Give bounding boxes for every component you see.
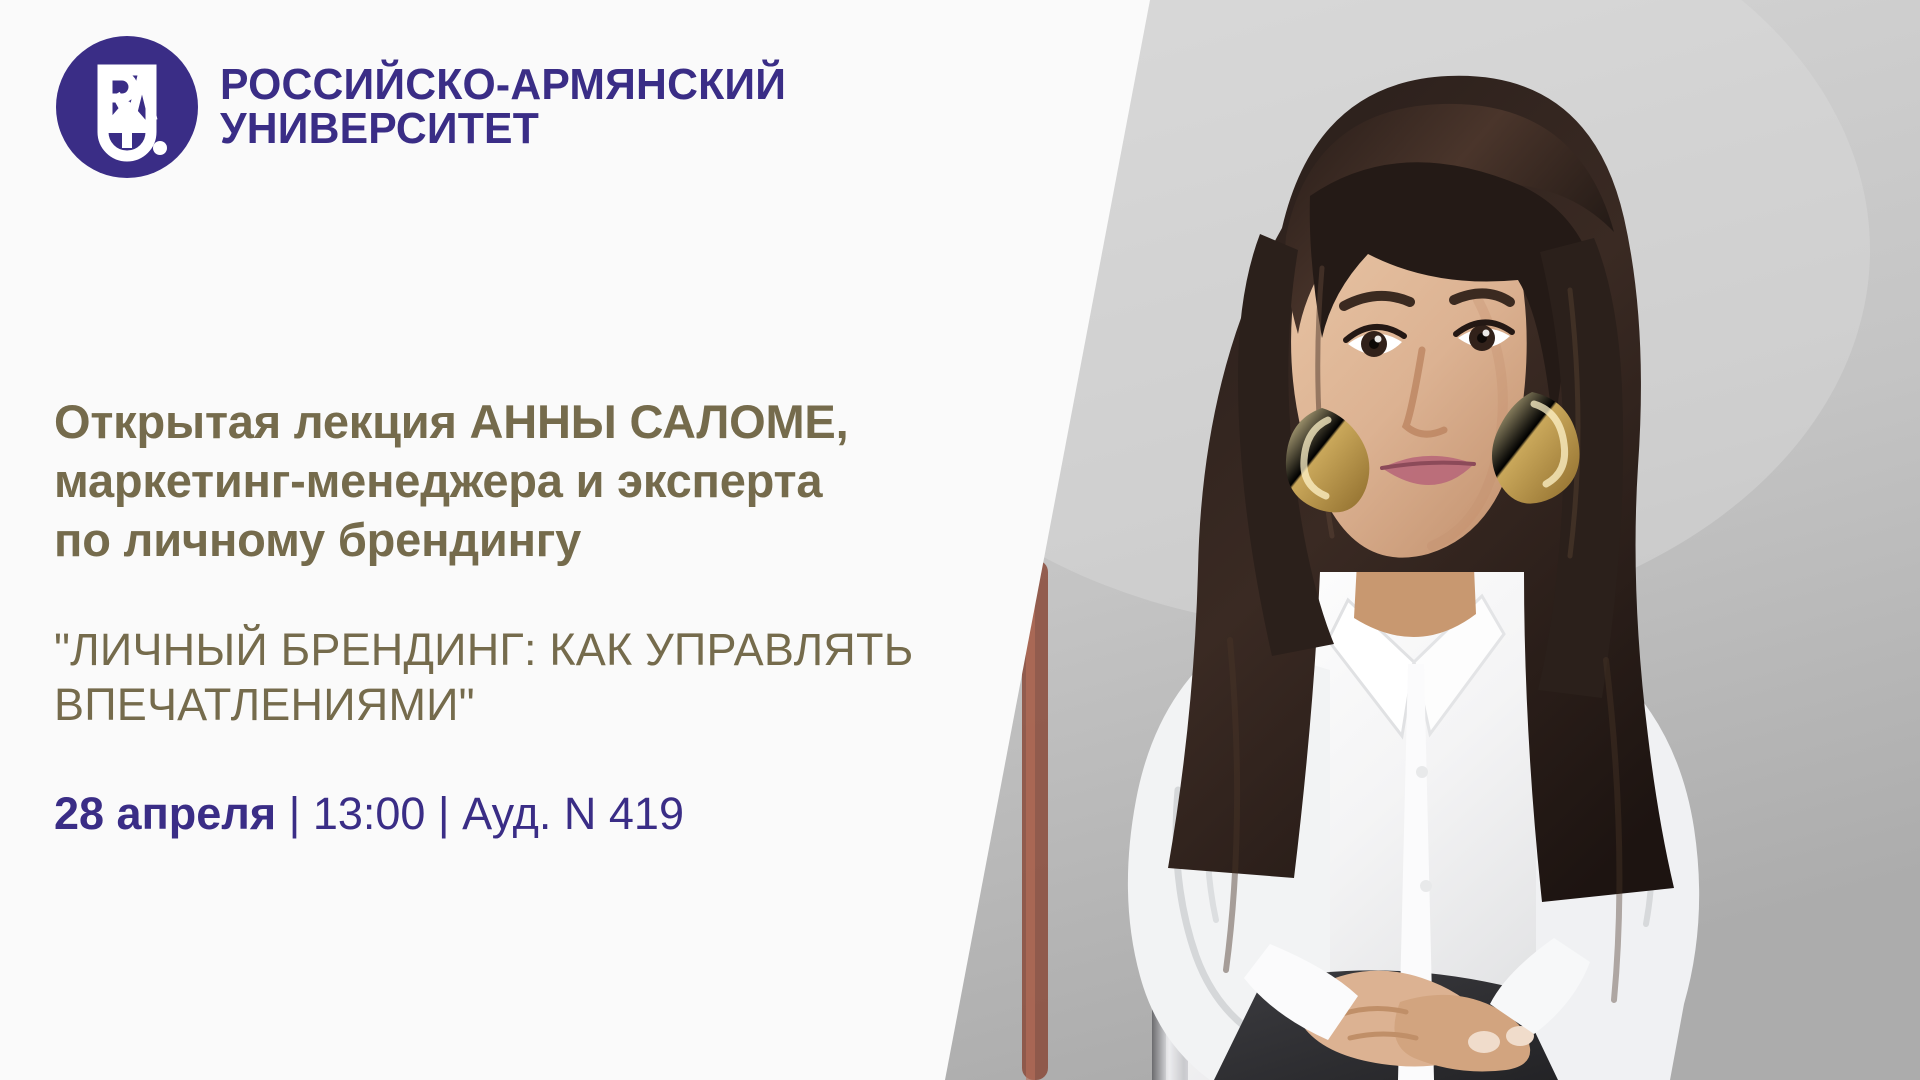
- lede-line-3: по личному брендингу: [54, 510, 864, 569]
- lecture-title-line-2: ВПЕЧАТЛЕНИЯМИ": [54, 677, 864, 733]
- university-logo: РОССИЙСКО-АРМЯНСКИЙ УНИВЕРСИТЕТ: [56, 36, 804, 178]
- wordmark-line-2: УНИВЕРСИТЕТ: [220, 107, 786, 151]
- lede-line-2: маркетинг-менеджера и эксперта: [54, 451, 864, 510]
- rau-monogram-icon: [56, 36, 198, 178]
- university-wordmark: РОССИЙСКО-АРМЯНСКИЙ УНИВЕРСИТЕТ: [220, 63, 804, 150]
- wordmark-line-1: РОССИЙСКО-АРМЯНСКИЙ: [220, 63, 786, 107]
- event-time-and-room: | 13:00 | Ауд. N 419: [276, 788, 684, 839]
- event-poster: РОССИЙСКО-АРМЯНСКИЙ УНИВЕРСИТЕТ Открытая…: [0, 0, 1920, 1080]
- lecture-lede: Открытая лекция АННЫ САЛОМЕ, маркетинг-м…: [54, 392, 864, 570]
- lecture-title: "ЛИЧНЫЙ БРЕНДИНГ: КАК УПРАВЛЯТЬ ВПЕЧАТЛЕ…: [54, 622, 864, 734]
- lecture-title-line-1: "ЛИЧНЫЙ БРЕНДИНГ: КАК УПРАВЛЯТЬ: [54, 622, 864, 678]
- event-meta: 28 апреля | 13:00 | Ауд. N 419: [54, 789, 864, 839]
- event-date: 28 апреля: [54, 788, 276, 839]
- lede-line-1: Открытая лекция АННЫ САЛОМЕ,: [54, 392, 864, 451]
- poster-copy: Открытая лекция АННЫ САЛОМЕ, маркетинг-м…: [54, 392, 864, 839]
